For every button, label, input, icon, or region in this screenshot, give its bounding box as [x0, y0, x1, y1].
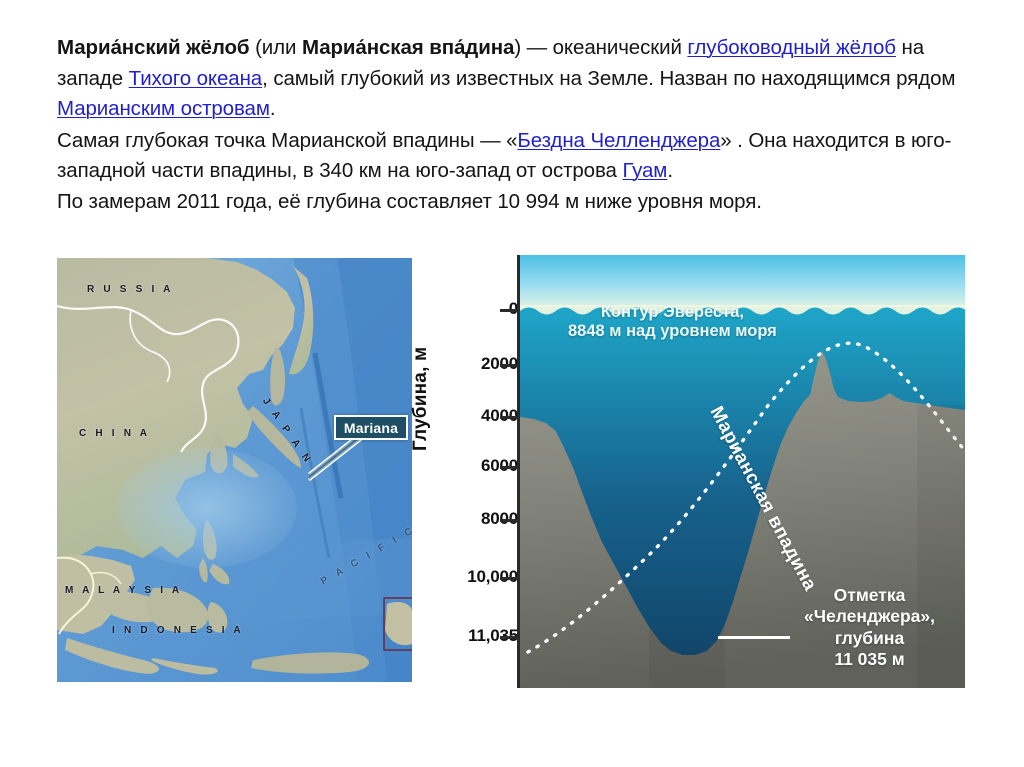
para2-text-4: . [667, 159, 673, 182]
article-paragraph-1: Мариа́нский жёлоб (или Мариа́нская впа́д… [57, 33, 969, 125]
challenger-pointer-rule [718, 636, 790, 639]
para2-text-0: Самая глубокая точка Марианской впадины … [57, 129, 517, 152]
para2-link-3[interactable]: Гуам [622, 159, 667, 182]
challenger-deep-note: Отметка «Челенджера», глубина 11 035 м [804, 585, 935, 670]
mariana-callout-box[interactable]: Mariana [334, 415, 408, 440]
para1-text-3: ) — океанический [514, 36, 687, 59]
mariana-callout-label: Mariana [344, 421, 398, 435]
para1-text-7: , самый глубокий из известных на Земле. … [262, 67, 955, 90]
depth-profile-figure[interactable]: Глубина, м 0200040006000800010,00011,035 [420, 255, 965, 691]
para1-bold-2: Мариа́нская впа́дина [302, 36, 514, 59]
para2-text-5: По замерам 2011 года, её глубина составл… [57, 190, 762, 213]
para1-text-9: . [270, 97, 276, 120]
para1-link-4[interactable]: глубоководный жёлоб [687, 36, 896, 59]
depth-plot-area: Контур Эвереста, 8848 м над уровнем моря… [517, 255, 965, 688]
everest-contour-note: Контур Эвереста, 8848 м над уровнем моря [568, 303, 777, 342]
map-label-malaysia: M A L A Y S I A [65, 585, 182, 596]
article-paragraph-2: Самая глубокая точка Марианской впадины … [57, 126, 969, 218]
map-label-indonesia: I N D O N E S I A [112, 625, 244, 636]
map-figure[interactable]: R U S S I A C H I N A J A P A N M A L A … [57, 258, 412, 682]
mariana-leader-line [307, 434, 367, 484]
map-label-russia: R U S S I A [87, 284, 174, 295]
map-label-china: C H I N A [79, 428, 150, 439]
para2-link-1[interactable]: Бездна Челленджера [517, 129, 720, 152]
para1-text-1: (или [249, 36, 301, 59]
depth-axis-title: Глубина, м [410, 347, 432, 451]
para1-bold-0: Мариа́нский жёлоб [57, 36, 249, 59]
para1-link-6[interactable]: Тихого океана [129, 67, 262, 90]
article-text-block: Мариа́нский жёлоб (или Мариа́нская впа́д… [57, 33, 969, 217]
para1-link-8[interactable]: Марианским островам [57, 97, 270, 120]
